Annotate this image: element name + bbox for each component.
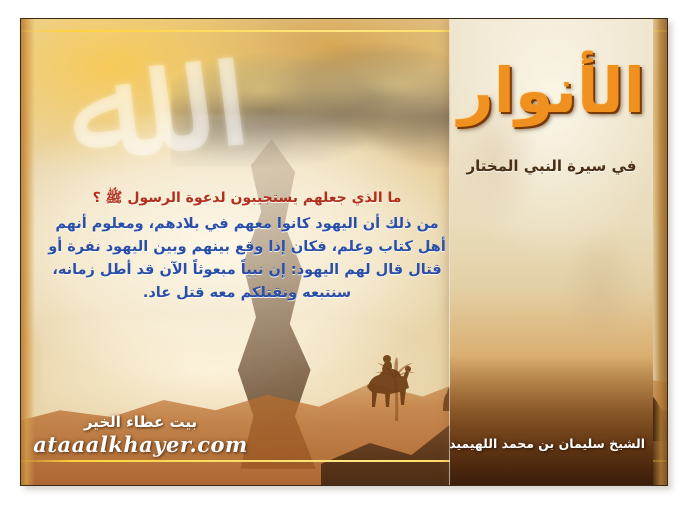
title-panel: الأنوار في سيرة النبي المختار xyxy=(450,19,653,485)
body-line-3: قتال قال لهم اليهود: إن نبياً مبعوثاً ال… xyxy=(45,259,449,282)
poster-image: ﷲ xyxy=(0,0,692,512)
poster-frame: ﷲ xyxy=(20,18,668,486)
site-url-text: ataaalkhayer.com xyxy=(33,432,248,457)
body-line-1: من ذلك أن اليهود كانوا معهم في بلادهم، و… xyxy=(45,213,449,236)
page-subtitle: في سيرة النبي المختار xyxy=(450,157,653,175)
site-name-arabic: بيت عطاء الخير xyxy=(33,413,248,431)
right-edge-strip xyxy=(653,19,667,485)
author-credit: الشيخ سليمان بن محمد اللهيميد xyxy=(449,436,645,451)
body-line-2: أهل كتاب وعلم، فكان إذا وقع بينهم وبين ا… xyxy=(45,236,449,259)
page-title: الأنوار xyxy=(450,45,653,137)
title-panel-shadow xyxy=(450,355,653,485)
body-line-question: ما الذي جعلهم يستجيبون لدعوة الرسول ﷺ ؟ xyxy=(45,187,449,210)
body-text-block: ما الذي جعلهم يستجيبون لدعوة الرسول ﷺ ؟ … xyxy=(45,187,449,305)
site-watermark: بيت عطاء الخير ataaalkhayer.com xyxy=(33,413,248,457)
body-line-4: سنتبعه ونقتلكم معه قتل عاد. xyxy=(45,282,449,305)
